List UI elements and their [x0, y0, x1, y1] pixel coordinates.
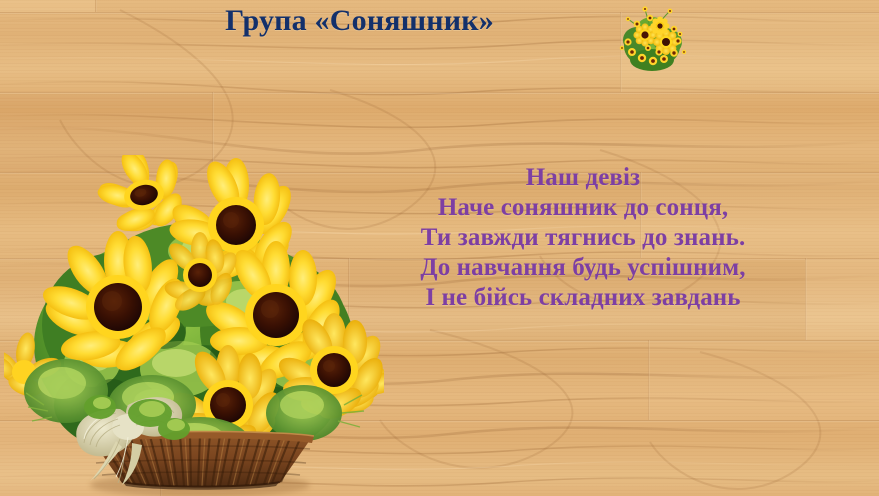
- sunflower-basket-image: [4, 155, 384, 496]
- plank-joint: [805, 258, 807, 340]
- motto-line: Наче соняшник до сонця,: [380, 193, 786, 223]
- sunflower-bouquet-small-icon: [612, 4, 692, 74]
- motto-text-block: Наш девіз Наче соняшник до сонця, Ти зав…: [380, 163, 786, 313]
- page-title: Група «Соняшник»: [0, 4, 879, 38]
- motto-line: І не бійсь складних завдань: [380, 283, 786, 313]
- motto-line: Ти завжди тягнись до знань.: [380, 223, 786, 253]
- motto-line: Наш девіз: [380, 163, 786, 193]
- plank-seam: [0, 92, 879, 94]
- plank-joint: [648, 340, 650, 420]
- slide-canvas: Група «Соняшник»: [0, 0, 879, 496]
- motto-line: До навчання будь успішним,: [380, 253, 786, 283]
